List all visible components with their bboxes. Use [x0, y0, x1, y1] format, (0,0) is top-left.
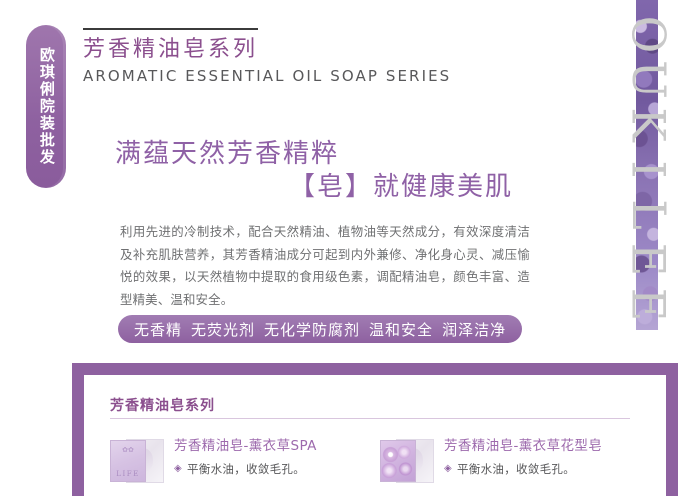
description-paragraph: 利用先进的冷制技术，配合天然精油、植物油等天然成分，有效深度清洁及补充肌肤营养，…: [120, 221, 530, 311]
feature-item-4: 润泽洁净: [442, 319, 506, 340]
product-info: 芳香精油皂-薰衣草花型皂 ◈ 平衡水油，收敛毛孔。: [444, 437, 602, 477]
soap-bar-lavender-flower: [380, 440, 416, 482]
products-panel-inner: 芳香精油皂系列 ✿✿ LIFE 芳香精油皂-薰衣草SPA ◈ 平衡水油，收敛毛孔…: [84, 375, 666, 496]
product-item[interactable]: ✿✿ LIFE 芳香精油皂-薰衣草SPA ◈ 平衡水油，收敛毛孔。: [110, 437, 317, 483]
product-description: 平衡水油，收敛毛孔。: [187, 461, 305, 477]
soap-bar-lavender-spa: ✿✿ LIFE: [110, 440, 146, 482]
product-description-row: ◈ 平衡水油，收敛毛孔。: [444, 461, 602, 477]
product-info: 芳香精油皂-薰衣草SPA ◈ 平衡水油，收敛毛孔。: [174, 437, 317, 477]
poster-page: 欧琪俐院装批发 芳香精油皂系列 AROMATIC ESSENTIAL OIL S…: [0, 0, 700, 496]
headline-block: 满蕴天然芳香精粹 【皂】就健康美肌: [115, 138, 535, 203]
headline-line-2: 【皂】就健康美肌: [115, 171, 535, 204]
products-section-divider: [110, 418, 630, 419]
products-panel: 芳香精油皂系列 ✿✿ LIFE 芳香精油皂-薰衣草SPA ◈ 平衡水油，收敛毛孔…: [72, 363, 678, 496]
product-thumbnail: [380, 437, 434, 483]
vertical-brand-badge-label: 欧琪俐院装批发: [26, 25, 66, 188]
feature-item-0: 无香精: [134, 319, 182, 340]
product-name: 芳香精油皂-薰衣草花型皂: [444, 438, 602, 456]
product-description: 平衡水油，收敛毛孔。: [457, 461, 575, 477]
product-thumbnail: ✿✿ LIFE: [110, 437, 164, 483]
soap-label: LIFE: [111, 470, 145, 478]
header-title-en: AROMATIC ESSENTIAL OIL SOAP SERIES: [83, 67, 503, 87]
diamond-bullet-icon: ◈: [174, 463, 182, 474]
feature-item-2: 无化学防腐剂: [264, 319, 360, 340]
feature-pill: 无香精 无荧光剂 无化学防腐剂 温和安全 润泽洁净: [118, 315, 522, 343]
headline-line-1: 满蕴天然芳香精粹: [115, 138, 535, 171]
product-item[interactable]: 芳香精油皂-薰衣草花型皂 ◈ 平衡水油，收敛毛孔。: [380, 437, 602, 483]
product-name: 芳香精油皂-薰衣草SPA: [174, 438, 317, 456]
soap-engraving-icon: ✿✿: [111, 446, 145, 455]
header-title-cn: 芳香精油皂系列: [83, 37, 503, 63]
header-block: 芳香精油皂系列 AROMATIC ESSENTIAL OIL SOAP SERI…: [83, 28, 503, 86]
products-section-title: 芳香精油皂系列: [110, 395, 215, 415]
feature-item-3: 温和安全: [369, 319, 433, 340]
diamond-bullet-icon: ◈: [444, 463, 452, 474]
vertical-brand-badge: 欧琪俐院装批发: [26, 25, 66, 188]
lavender-texture-strip: [636, 0, 658, 330]
product-description-row: ◈ 平衡水油，收敛毛孔。: [174, 461, 317, 477]
feature-item-1: 无荧光剂: [191, 319, 255, 340]
header-divider: [83, 28, 258, 30]
